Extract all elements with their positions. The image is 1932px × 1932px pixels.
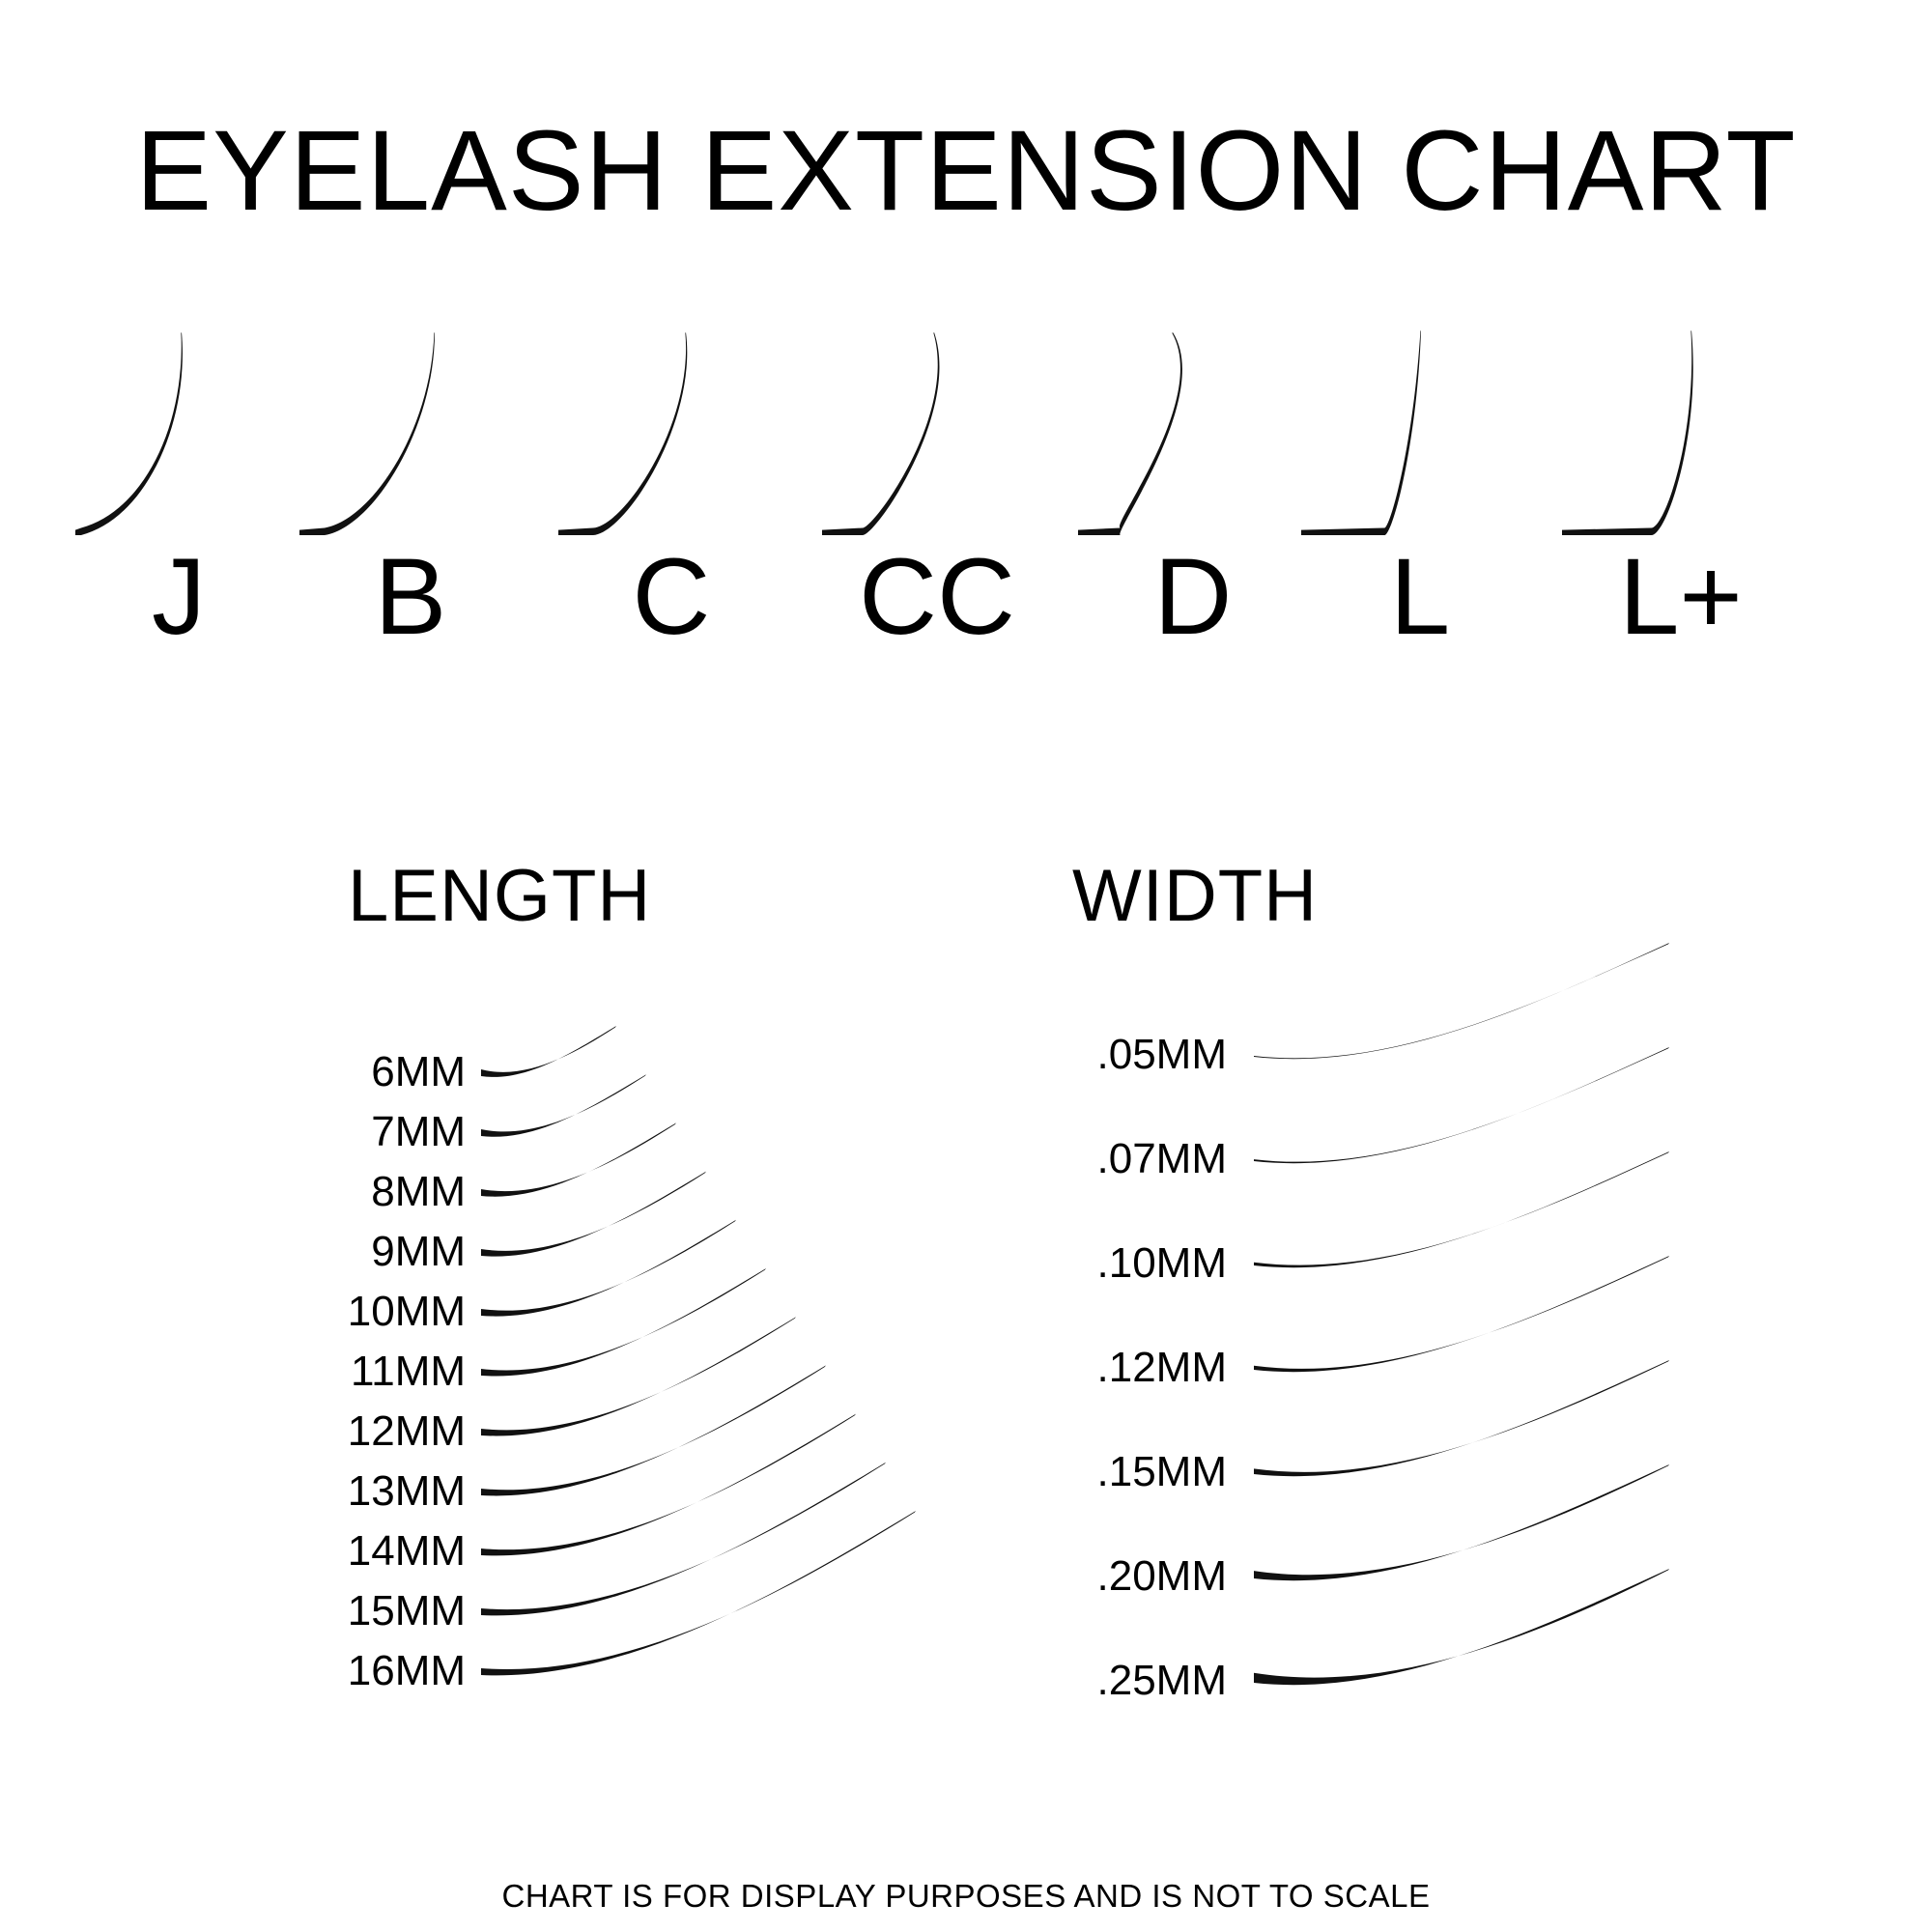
eyelash-extension-chart: EYELASH EXTENSION CHART JBCCCDLL+ LENGTH… — [0, 0, 1932, 1932]
length-label: 12MM — [319, 1410, 466, 1453]
width-label: .20MM — [1043, 1555, 1227, 1598]
length-lash — [481, 1074, 646, 1137]
curl-lash-icon — [1560, 328, 1802, 551]
width-lash — [1254, 1464, 1669, 1580]
width-lash — [1254, 1360, 1669, 1476]
length-label: 16MM — [319, 1650, 466, 1692]
curl-lash-icon — [1072, 328, 1314, 551]
curl-item-cc: CC — [816, 328, 1058, 715]
width-label: .07MM — [1043, 1138, 1227, 1180]
footer-disclaimer: CHART IS FOR DISPLAY PURPOSES AND IS NOT… — [0, 1880, 1932, 1912]
width-label: .10MM — [1043, 1242, 1227, 1285]
curl-item-d: D — [1072, 328, 1314, 715]
curl-item-j: J — [58, 328, 299, 715]
width-heading: WIDTH — [1072, 860, 1318, 933]
length-lash — [481, 1220, 736, 1317]
curl-lash-icon — [290, 328, 531, 551]
length-label: 15MM — [319, 1590, 466, 1633]
length-label: 14MM — [319, 1530, 466, 1573]
length-label: 9MM — [319, 1231, 466, 1273]
curl-item-l: L — [1299, 328, 1541, 715]
length-lash — [481, 1026, 616, 1077]
width-label: .05MM — [1043, 1034, 1227, 1076]
curl-label: C — [551, 543, 792, 651]
curl-item-b: B — [290, 328, 531, 715]
curl-row: JBCCCDLL+ — [0, 328, 1932, 715]
length-block: 6MM7MM8MM9MM10MM11MM12MM13MM14MM15MM16MM — [319, 1005, 918, 1710]
width-lash — [1254, 943, 1669, 1059]
curl-label: D — [1072, 543, 1314, 651]
length-label: 13MM — [319, 1470, 466, 1513]
width-lash — [1254, 1256, 1669, 1372]
length-lash — [481, 1511, 916, 1675]
curl-lash-icon — [551, 328, 792, 551]
width-label: .25MM — [1043, 1660, 1227, 1702]
curl-lash-icon — [816, 328, 1058, 551]
curl-label: L+ — [1560, 543, 1802, 651]
width-lash — [1254, 1151, 1669, 1267]
curl-item-c: C — [551, 328, 792, 715]
width-label: .12MM — [1043, 1347, 1227, 1389]
page-title: EYELASH EXTENSION CHART — [0, 114, 1932, 228]
curl-label: CC — [816, 543, 1058, 651]
curl-lash-icon — [58, 328, 299, 551]
length-lash — [481, 1463, 886, 1616]
curl-item-lplus: L+ — [1560, 328, 1802, 715]
length-heading: LENGTH — [348, 860, 651, 933]
length-label: 10MM — [319, 1291, 466, 1333]
length-label: 8MM — [319, 1171, 466, 1213]
length-label: 7MM — [319, 1111, 466, 1153]
curl-label: B — [290, 543, 531, 651]
curl-label: J — [58, 543, 299, 651]
width-block: .05MM.07MM.10MM.12MM.15MM.20MM.25MM — [1043, 995, 1845, 1758]
length-label: 6MM — [319, 1051, 466, 1094]
width-lash — [1254, 1047, 1669, 1163]
curl-label: L — [1299, 543, 1541, 651]
width-lash — [1254, 1569, 1669, 1685]
curl-lash-icon — [1299, 328, 1541, 551]
width-label: .15MM — [1043, 1451, 1227, 1493]
length-lash — [481, 1172, 706, 1257]
length-lash — [481, 1317, 796, 1435]
length-lash — [481, 1414, 856, 1556]
length-label: 11MM — [319, 1350, 466, 1393]
